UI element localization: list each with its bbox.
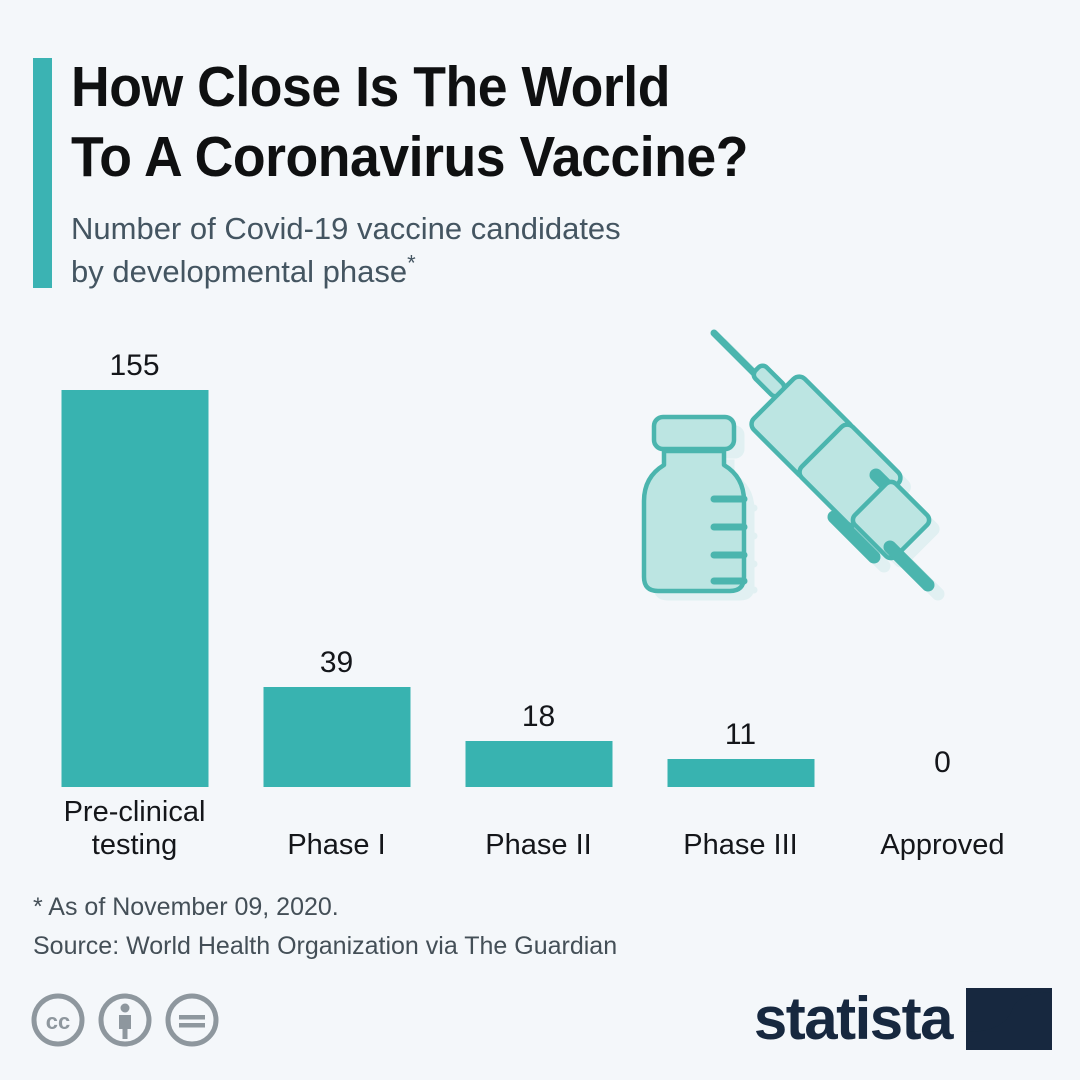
header: How Close Is The World To A Coronavirus … [0,0,1080,310]
page-title: How Close Is The World To A Coronavirus … [71,52,917,192]
bar-category-label: Phase I [243,829,430,862]
bar[interactable] [61,390,208,787]
footnote-marker: * [407,251,416,276]
bar-value-label: 18 [465,700,612,734]
bar-value-label: 155 [61,349,208,383]
bar[interactable] [263,687,410,787]
cc-no-derivatives-icon[interactable] [164,992,220,1048]
footnote-text: * As of November 09, 2020. Source: World… [33,888,617,966]
bar-chart: 155Pre-clinical testing39Phase I18Phase … [0,330,1080,870]
bar-category-label: Pre-clinical testing [41,796,228,862]
page-subtitle: Number of Covid-19 vaccine candidates by… [71,207,831,293]
creative-commons-license: cc [30,992,220,1048]
subtitle-line-2: by developmental phase [71,254,407,289]
bar-group: 155Pre-clinical testing [61,330,208,870]
statista-logo[interactable]: statista [754,988,1052,1050]
subtitle-line-1: Number of Covid-19 vaccine candidates [71,211,621,246]
statista-wordmark: statista [754,989,952,1049]
statista-mark-icon [966,988,1052,1050]
bar-group: 0Approved [869,330,1016,870]
bar-group: 11Phase III [667,330,814,870]
title-accent-bar [33,58,52,288]
bar[interactable] [667,759,814,787]
bar-value-label: 11 [667,718,814,752]
bar-category-label: Phase III [647,829,834,862]
bar-group: 39Phase I [263,330,410,870]
bar-value-label: 39 [263,646,410,680]
bar-category-label: Phase II [445,829,632,862]
cc-attribution-icon[interactable] [97,992,153,1048]
cc-icon[interactable]: cc [30,992,86,1048]
bar-category-label: Approved [849,829,1036,862]
bar[interactable] [465,741,612,787]
bar-group: 18Phase II [465,330,612,870]
svg-text:cc: cc [46,1009,70,1034]
bar-value-label: 0 [869,746,1016,780]
